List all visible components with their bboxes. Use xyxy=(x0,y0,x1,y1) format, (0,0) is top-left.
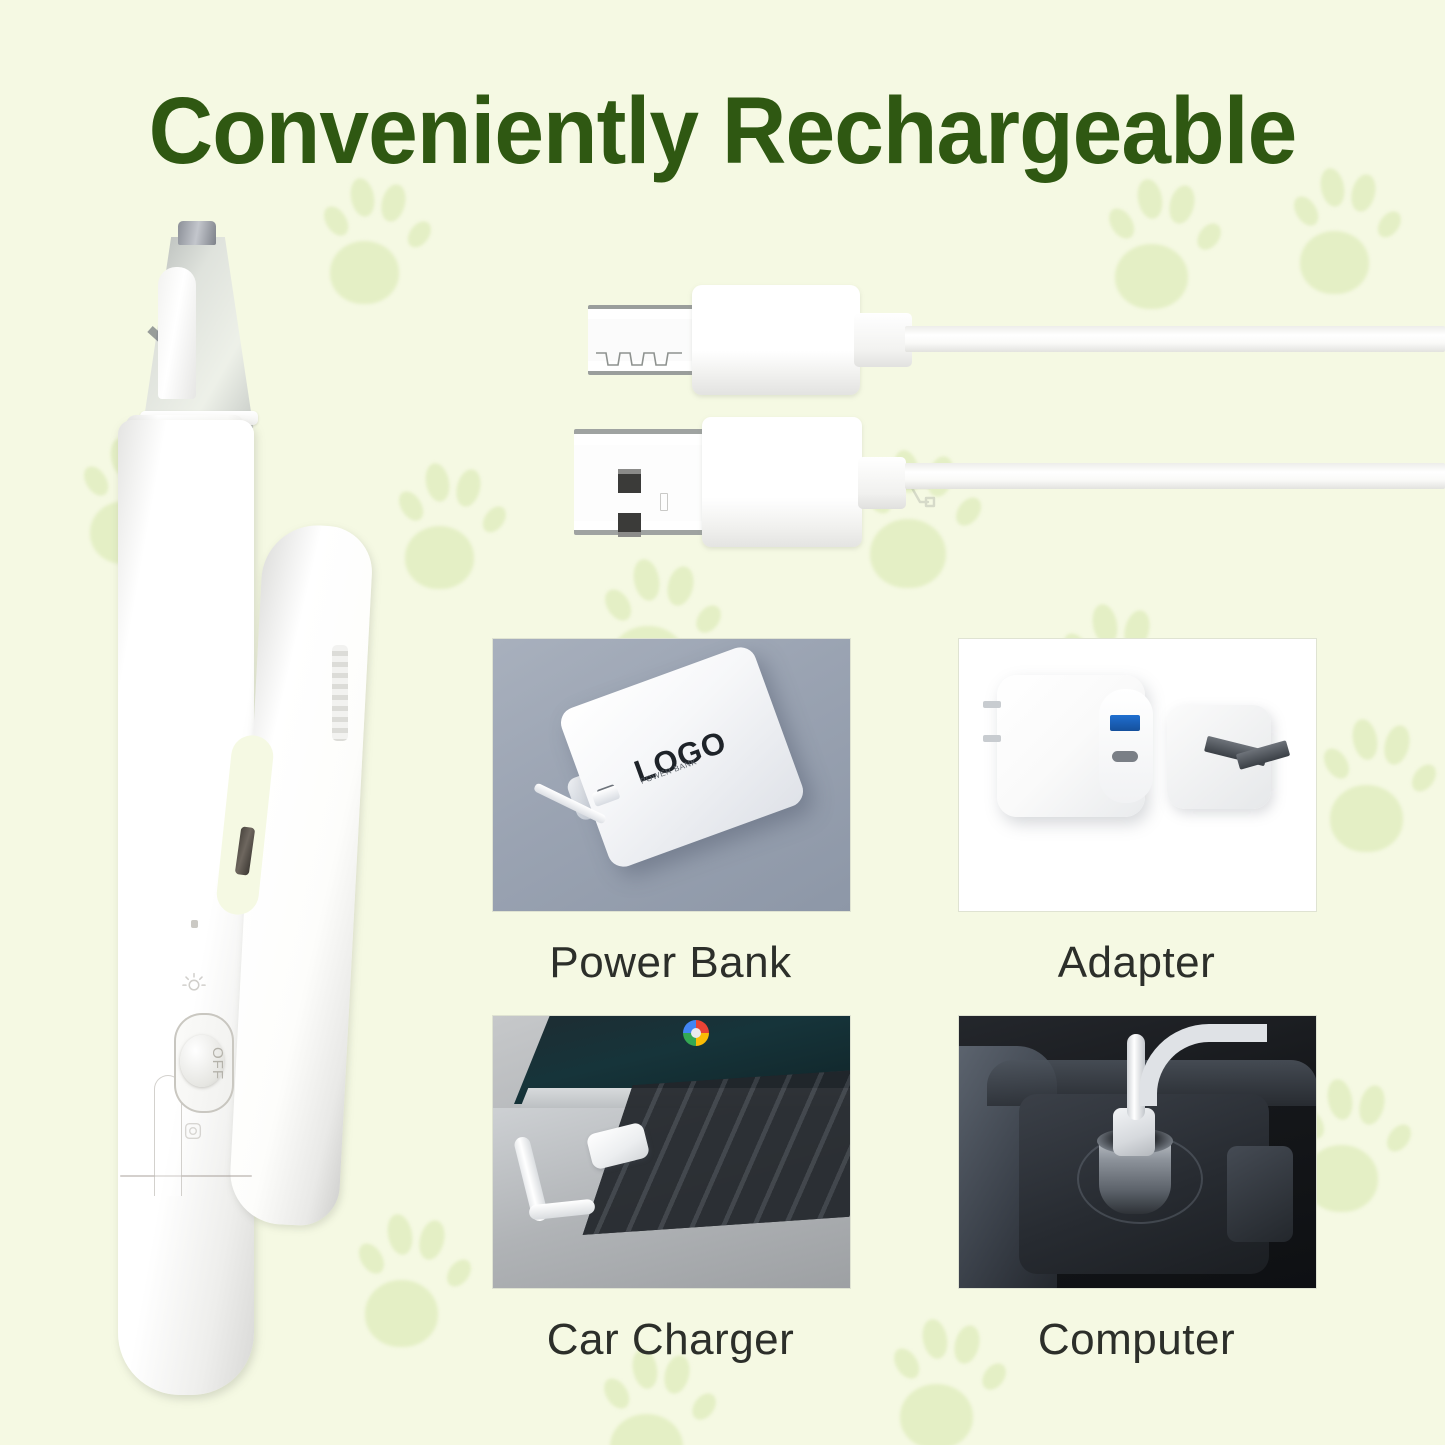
charging-option-car-charger[interactable]: Car Charger xyxy=(492,1015,849,1365)
product-infographic: Conveniently Rechargeable OFF xyxy=(0,0,1445,1445)
led-indicator xyxy=(191,920,198,928)
switch-off-label: OFF xyxy=(209,1047,226,1080)
adapter-usb-c-port xyxy=(1112,751,1138,762)
usb-a-cable xyxy=(574,411,914,551)
option-label-power-bank: Power Bank xyxy=(492,938,849,988)
chrome-logo-icon xyxy=(683,1020,709,1046)
micro-usb-housing xyxy=(692,285,860,395)
nail-clipper-product-image: OFF xyxy=(96,215,456,1415)
usb-contact-pad xyxy=(618,469,641,493)
usb-a-metal-plug xyxy=(574,429,708,535)
micro-usb-metal-shell xyxy=(588,305,698,375)
micro-usb-contacts xyxy=(596,351,682,373)
usb-alignment-slot xyxy=(660,493,668,511)
usb-a-cord xyxy=(905,463,1445,489)
micro-usb-strain-relief xyxy=(854,313,912,367)
adapter-usb-a-port xyxy=(1110,715,1140,731)
body-seam-line xyxy=(120,1175,252,1177)
usb-a-housing xyxy=(702,417,862,547)
page-title: Conveniently Rechargeable xyxy=(43,84,1401,179)
guard-inner-post xyxy=(158,267,196,399)
power-bank-photo: LOGO POWER BANK xyxy=(492,638,851,912)
paw-print-icon xyxy=(1320,700,1445,858)
option-label-computer: Computer xyxy=(958,1315,1315,1365)
charging-option-power-bank[interactable]: LOGO POWER BANK Power Bank xyxy=(492,638,849,988)
usb-a-strain-relief xyxy=(858,457,906,509)
charging-option-computer[interactable]: Computer xyxy=(958,1015,1315,1365)
guard-cap xyxy=(178,221,216,245)
car-socket-photo xyxy=(958,1015,1317,1289)
micro-usb-cord xyxy=(905,326,1445,352)
charging-option-adapter[interactable]: Adapter xyxy=(958,638,1315,988)
grip-ribs xyxy=(332,645,348,741)
laptop-photo xyxy=(492,1015,851,1289)
option-label-adapter: Adapter xyxy=(958,938,1315,988)
usb-contact-pad xyxy=(618,513,641,537)
grinder-icon xyxy=(182,1120,204,1142)
option-label-car-charger: Car Charger xyxy=(492,1315,849,1365)
micro-usb-cable xyxy=(588,281,908,399)
sun-light-icon xyxy=(181,971,207,997)
adapter-photo xyxy=(958,638,1317,912)
